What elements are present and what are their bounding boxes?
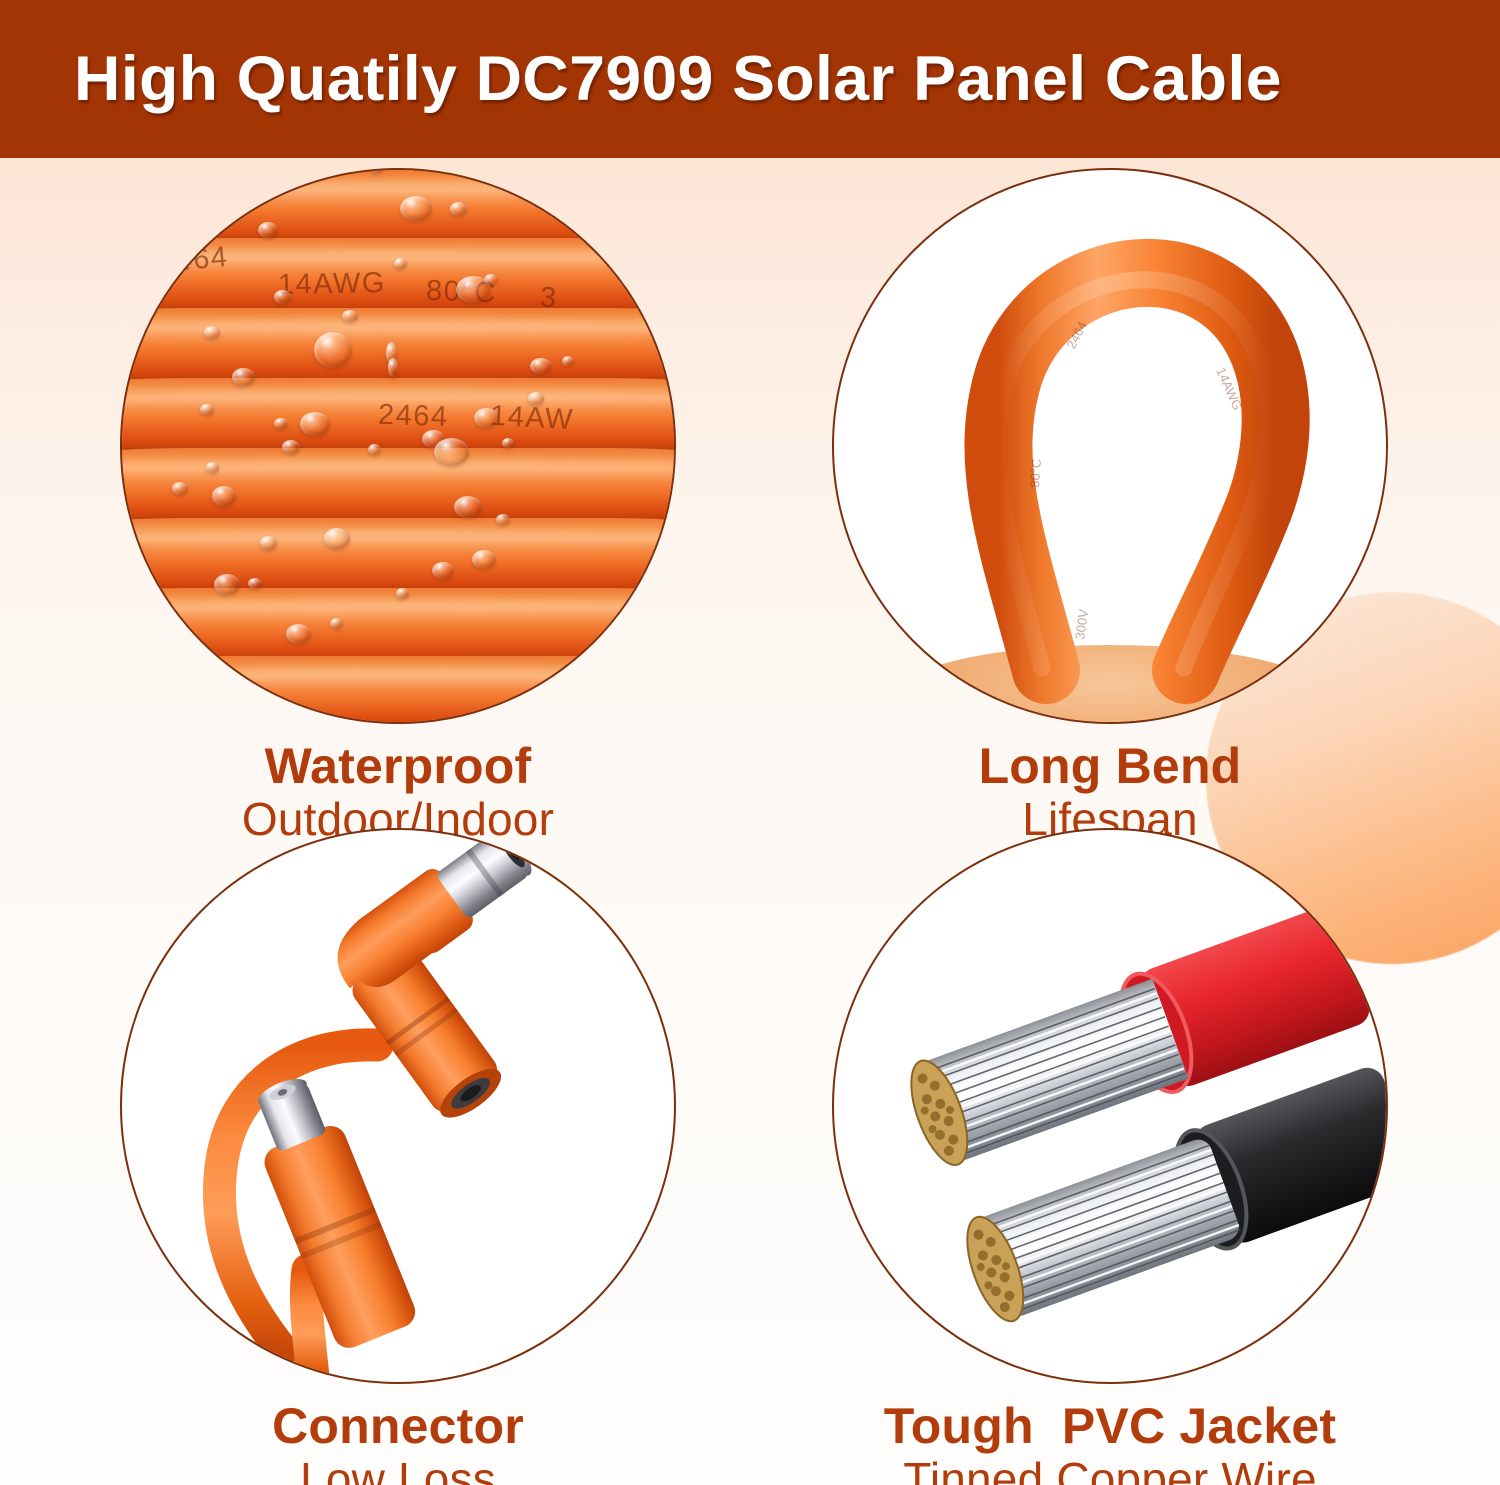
feature-image-pvc-jacket	[832, 828, 1388, 1384]
cable-marking: 3	[539, 281, 559, 315]
feature-caption-pvc-jacket: Tough PVC Jacket Tinned Copper Wire	[832, 1398, 1388, 1485]
dc-connector-art	[122, 830, 676, 1384]
tinned-copper-strands-art	[834, 830, 1388, 1384]
feature-image-waterproof: 80°C 300 2464 14AWG 80°C 3 2464 14AW	[120, 168, 676, 724]
feature-title: Waterproof	[120, 738, 676, 794]
feature-card-connector: Connector Low Loss	[48, 828, 748, 1485]
svg-text:80°C: 80°C	[1027, 458, 1044, 488]
feature-title: Long Bend	[832, 738, 1388, 794]
feature-image-long-bend: 2464 14AWG 80°C 300V	[832, 168, 1388, 724]
feature-subtitle: Tinned Copper Wire	[832, 1454, 1388, 1485]
feature-card-pvc-jacket: Tough PVC Jacket Tinned Copper Wire	[760, 828, 1460, 1485]
page-title: High Quatily DC7909 Solar Panel Cable	[74, 43, 1282, 115]
feature-caption-connector: Connector Low Loss	[120, 1398, 676, 1485]
circle-frame	[120, 828, 676, 1384]
header-banner: High Quatily DC7909 Solar Panel Cable	[0, 0, 1500, 158]
svg-text:300V: 300V	[1072, 608, 1091, 640]
feature-subtitle: Low Loss	[120, 1454, 676, 1485]
cable-marking: 2464	[377, 399, 449, 434]
cable-marking: 14AW	[489, 400, 575, 437]
feature-image-connector	[120, 828, 676, 1384]
feature-card-waterproof: 80°C 300 2464 14AWG 80°C 3 2464 14AW	[48, 168, 748, 846]
infographic-page: High Quatily DC7909 Solar Panel Cable	[0, 0, 1500, 1485]
coiled-cable-art: 80°C 300 2464 14AWG 80°C 3 2464 14AW	[120, 168, 676, 724]
circle-frame: 80°C 300 2464 14AWG 80°C 3 2464 14AW	[120, 168, 676, 724]
circle-frame	[832, 828, 1388, 1384]
circle-frame: 2464 14AWG 80°C 300V	[832, 168, 1388, 724]
feature-title: Tough PVC Jacket	[832, 1398, 1388, 1454]
feature-card-long-bend: 2464 14AWG 80°C 300V Long Bend Lifespan	[760, 168, 1460, 846]
cable-marking: 2464	[157, 241, 230, 280]
cable-marking: 14AWG	[278, 267, 387, 302]
cable-loop-art: 2464 14AWG 80°C 300V	[834, 170, 1388, 724]
feature-title: Connector	[120, 1398, 676, 1454]
feature-grid: 80°C 300 2464 14AWG 80°C 3 2464 14AW	[0, 158, 1500, 1485]
